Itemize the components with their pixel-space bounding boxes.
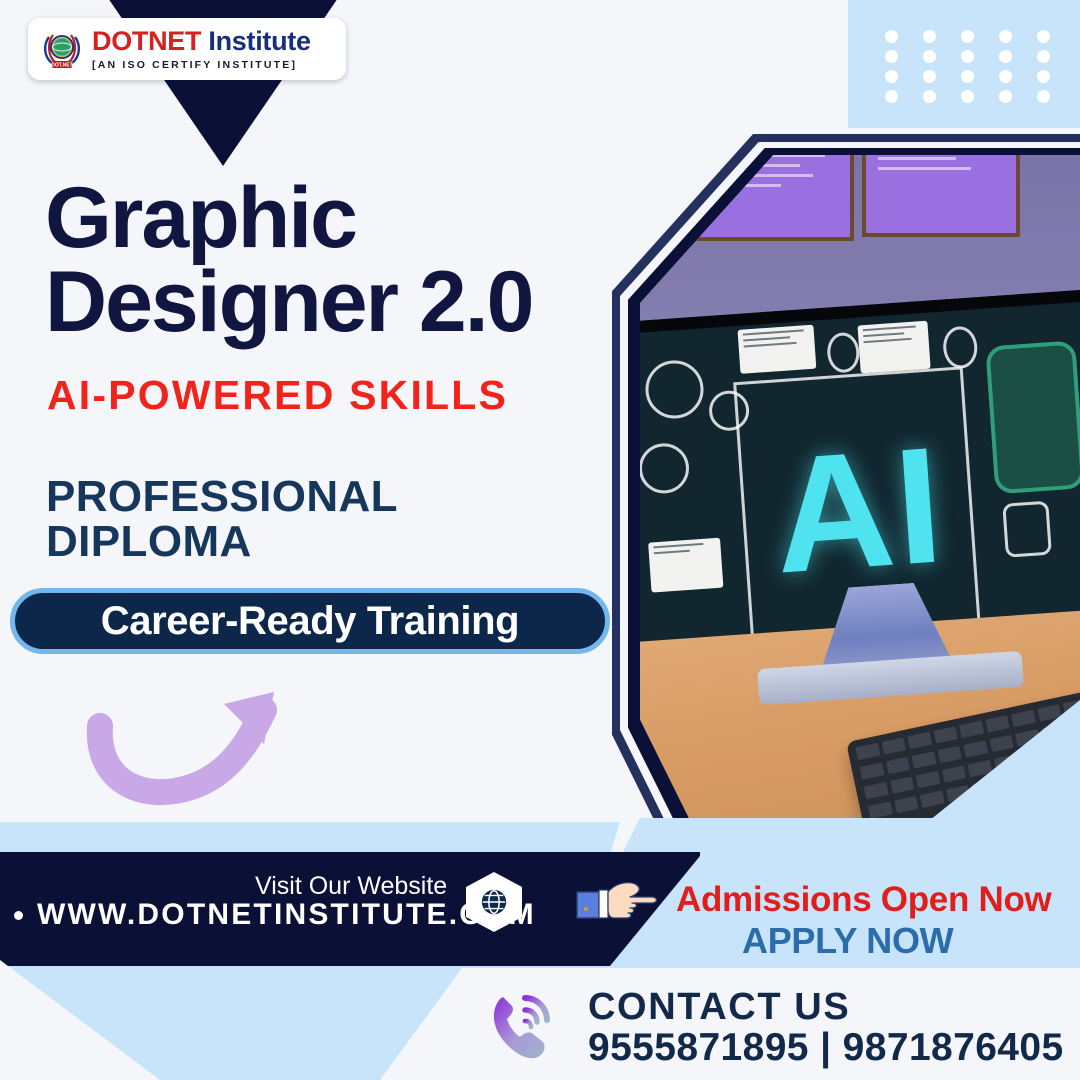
visit-website-label: Visit Our Website [255,872,447,901]
brand-name: DOTNET Institute [92,28,311,55]
website-url-row[interactable]: WWW.DOTNETINSTITUTE.COM [14,898,536,932]
career-badge-label: Career-Ready Training [101,599,519,644]
contact-label: CONTACT US [588,986,850,1029]
screen-note-1 [738,325,817,374]
screen-green-node [986,340,1080,494]
career-badge: Career-Ready Training [10,588,610,654]
dot-grid-decoration [872,26,1062,106]
apply-now-cta[interactable]: APPLY NOW [742,920,953,962]
screen-doodle-circle-5 [942,325,979,369]
wall-picture-2 [862,155,1020,237]
screen-note-2 [858,321,931,374]
contact-numbers[interactable]: 9555871895 | 9871876405 [588,1026,1064,1070]
website-url[interactable]: WWW.DOTNETINSTITUTE.COM [37,898,536,932]
emblem-label: DOT.NET [51,63,72,69]
screen-note-3 [648,538,723,593]
curved-arrow-icon [78,678,298,813]
brand-logo[interactable]: DOT.NET DOTNET Institute [AN ISO CERTIFY… [28,18,346,80]
pointing-hand-icon [576,878,662,926]
subtitle: AI-POWERED SKILLS [47,372,508,419]
screen-doodle-circle-1 [644,359,706,421]
brand-logo-text: DOTNET Institute [AN ISO CERTIFY INSTITU… [92,28,311,71]
institute-emblem-icon: DOT.NET [40,27,84,71]
page-title: Graphic Designer 2.0 [45,176,645,345]
monitor-photo: AI [640,155,1080,827]
bullet-icon [14,911,23,920]
admissions-headline: Admissions Open Now [676,880,1051,920]
program-line-2: DIPLOMA [46,520,398,565]
phone-call-icon [487,988,561,1066]
title-line-1: Graphic [45,170,356,266]
brand-name-dotnet: DOTNET [92,26,201,56]
screen-doodle-circle-2 [640,442,691,495]
screen-ai-text: AI [769,422,949,598]
screen-doodle-circle-4 [826,332,861,374]
program-title: PROFESSIONAL DIPLOMA [46,475,398,565]
brand-name-institute: Institute [208,26,310,56]
screen-doodle-rounded [1003,501,1053,558]
title-line-2: Designer 2.0 [45,260,645,344]
brand-tagline: [AN ISO CERTIFY INSTITUTE] [92,60,311,71]
navy-divider-line [0,852,700,856]
poster-canvas: DOT.NET DOTNET Institute [AN ISO CERTIFY… [0,0,1080,1080]
program-line-1: PROFESSIONAL [46,472,398,521]
